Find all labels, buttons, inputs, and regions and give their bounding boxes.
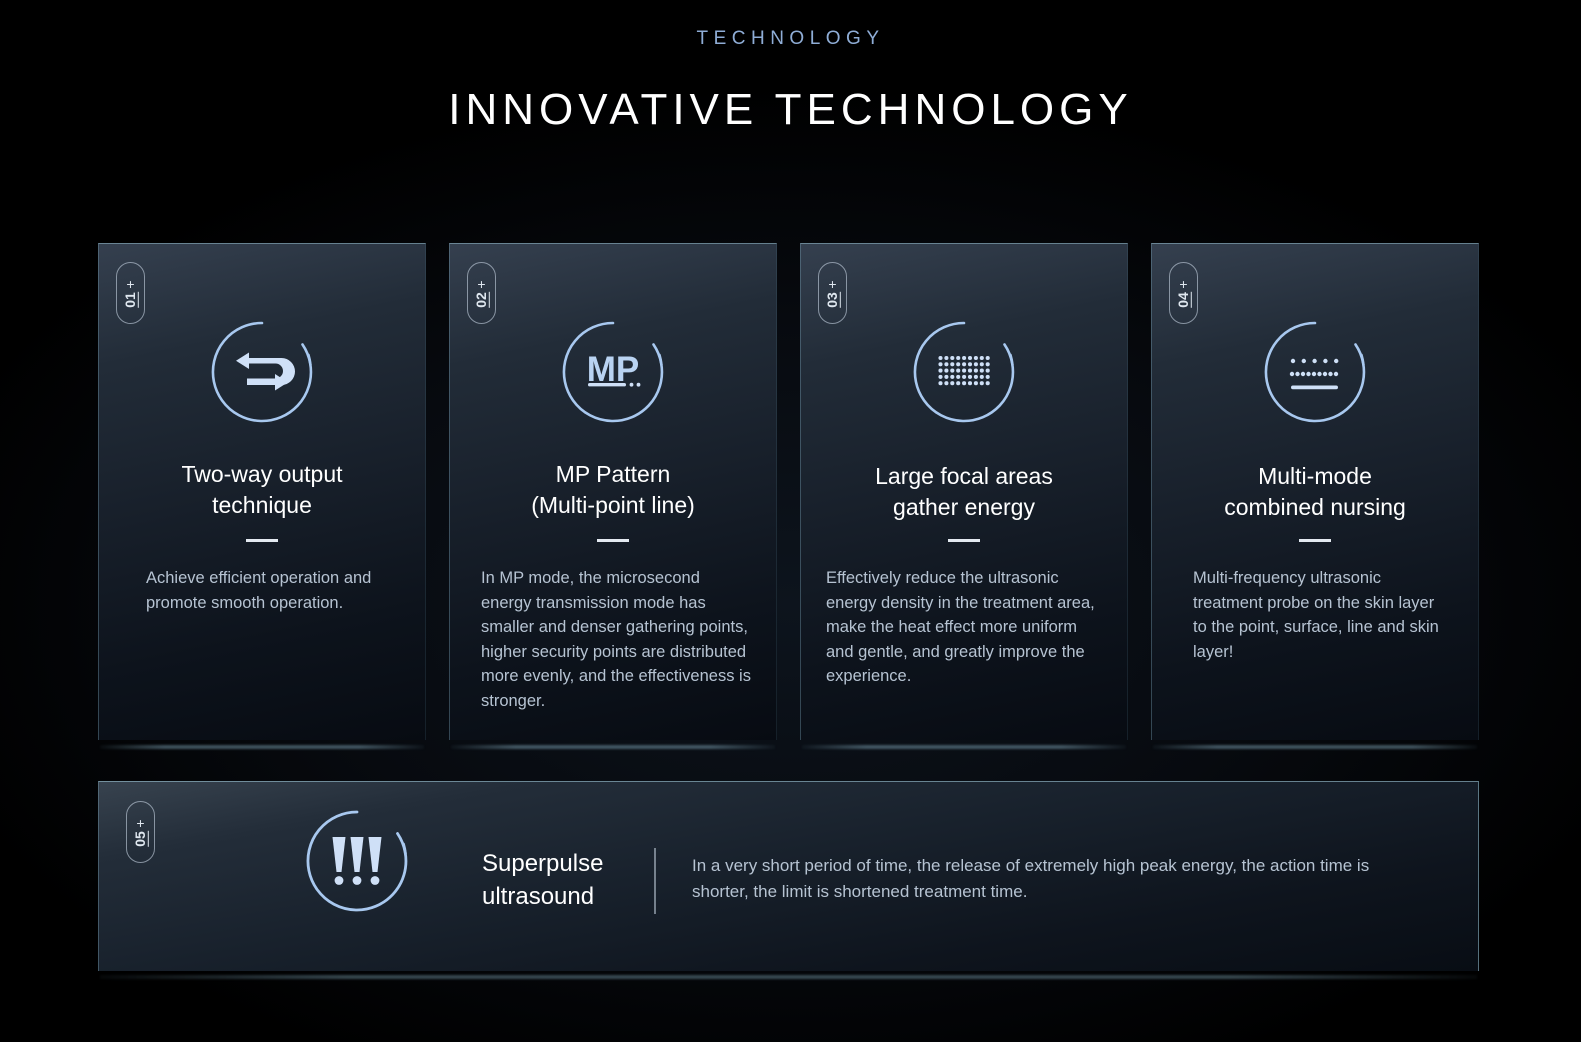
banner-badge-05: + 05 (126, 801, 155, 863)
two-way-arrow-loop-icon (209, 319, 315, 425)
triple-exclamation-icon (304, 808, 410, 914)
card-body-text: Achieve efficient operation and promote … (146, 566, 392, 615)
page-title: INNOVATIVE TECHNOLOGY (0, 85, 1581, 135)
card-badge-04: + 04 (1169, 262, 1198, 324)
card-bottom-glow (451, 745, 775, 749)
card-title: Two-way outputtechnique (114, 459, 410, 521)
title-divider (597, 539, 629, 542)
card-icon-area (1151, 319, 1479, 425)
title-divider (246, 539, 278, 542)
card-title: MP Pattern(Multi-point line) (465, 459, 761, 521)
card-badge-03: + 03 (818, 262, 847, 324)
card-badge-01: + 01 (116, 262, 145, 324)
card-bottom-glow (100, 745, 424, 749)
card-icon-area: MP (449, 319, 777, 425)
card-body-text: Multi-frequency ultrasonic treatment pro… (1193, 566, 1449, 664)
badge-number: 01 (122, 292, 138, 308)
card-icon-area (800, 319, 1128, 425)
card-icon-area (98, 319, 426, 425)
plus-icon: + (828, 278, 836, 290)
title-divider (1299, 539, 1331, 542)
superpulse-banner[interactable]: + 05 Superpulseultrasound In a very shor… (98, 781, 1479, 971)
feature-card-01[interactable]: + 01 Two-way outputtechnique Achieve eff… (98, 243, 426, 740)
layered-dots-line-icon (1262, 319, 1368, 425)
card-title: Large focal areasgather energy (816, 461, 1112, 523)
card-body-text: In MP mode, the microsecond energy trans… (481, 566, 751, 713)
feature-card-02[interactable]: + 02 MP MP Pattern(Multi-point line) (449, 243, 777, 740)
badge-number: 04 (1175, 292, 1191, 308)
plus-icon: + (126, 278, 134, 290)
card-bottom-glow (802, 745, 1126, 749)
card-bottom-glow (1153, 745, 1477, 749)
banner-title: Superpulseultrasound (482, 847, 603, 913)
badge-number: 03 (824, 292, 840, 308)
section-eyebrow: TECHNOLOGY (0, 28, 1581, 50)
badge-number: 05 (132, 831, 148, 847)
card-body-text: Effectively reduce the ultrasonic energy… (826, 566, 1106, 689)
banner-bottom-glow (100, 975, 1477, 979)
feature-card-grid: + 01 Two-way outputtechnique Achieve eff… (98, 243, 1479, 740)
plus-icon: + (136, 817, 144, 829)
feature-card-03[interactable]: + 03 (800, 243, 1128, 740)
feature-card-04[interactable]: + 04 (1151, 243, 1479, 740)
banner-body-text: In a very short period of time, the rele… (692, 853, 1419, 905)
badge-number: 02 (473, 292, 489, 308)
technology-section: TECHNOLOGY INNOVATIVE TECHNOLOGY + 01 (0, 0, 1581, 1042)
title-divider (948, 539, 980, 542)
card-badge-02: + 02 (467, 262, 496, 324)
dot-grid-icon (911, 319, 1017, 425)
card-title: Multi-modecombined nursing (1167, 461, 1463, 523)
banner-separator (654, 848, 656, 914)
mp-pattern-icon: MP (560, 319, 666, 425)
plus-icon: + (1179, 278, 1187, 290)
plus-icon: + (477, 278, 485, 290)
